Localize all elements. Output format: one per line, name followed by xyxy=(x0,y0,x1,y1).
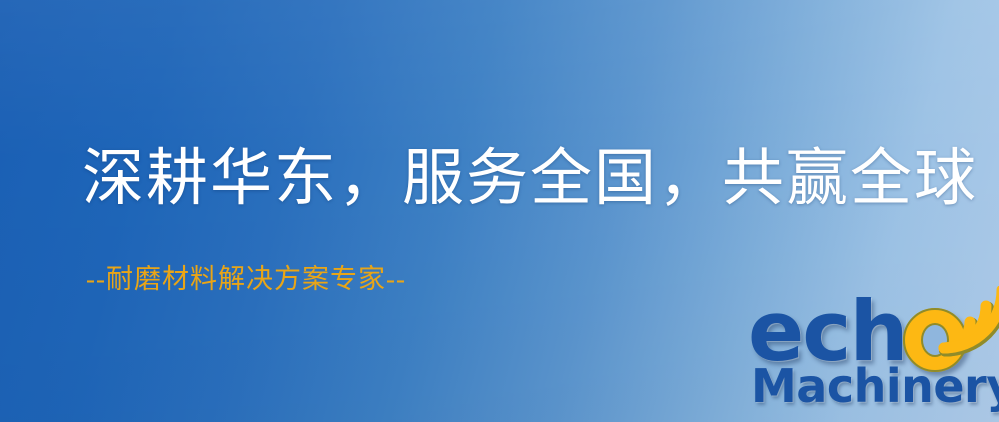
banner-subtitle: --耐磨材料解决方案专家-- xyxy=(86,264,406,295)
banner-headline: 深耕华东，服务全国，共赢全球 xyxy=(82,147,978,212)
promo-banner: 深耕华东，服务全国，共赢全球 --耐磨材料解决方案专家-- ech M xyxy=(0,0,999,422)
logo-sub-wordmark: Machinery® xyxy=(751,363,999,409)
logo-machinery-text: Machinery xyxy=(751,359,999,413)
echo-machinery-logo: ech Machinery® xyxy=(748,296,999,422)
signal-waves-icon xyxy=(934,286,999,360)
